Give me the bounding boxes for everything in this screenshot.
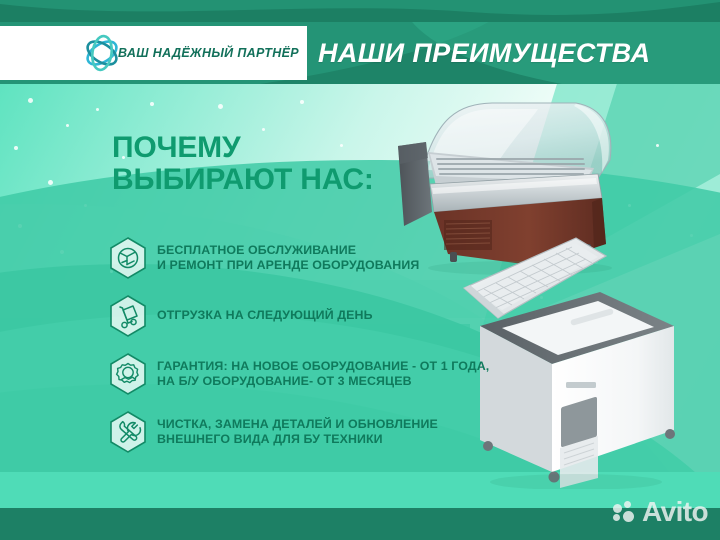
feature-line-2: НА Б/У ОБОРУДОВАНИЕ- ОТ 3 МЕСЯЦЕВ bbox=[157, 374, 489, 389]
list-item: ОТГРУЗКА НА СЛЕДУЮЩИЙ ДЕНЬ bbox=[108, 294, 528, 338]
guarantee-badge-icon bbox=[108, 352, 148, 396]
avito-dots-icon bbox=[613, 501, 639, 523]
banner-stage: ПОЧЕМУ ВЫБИРАЮТ НАС: bbox=[0, 84, 720, 540]
headline-line-1: ПОЧЕМУ bbox=[112, 131, 240, 164]
list-item-label: ГАРАНТИЯ: НА НОВОЕ ОБОРУДОВАНИЕ - ОТ 1 Г… bbox=[157, 359, 489, 389]
advantages-list: БЕСПЛАТНОЕ ОБСЛУЖИВАНИЕ И РЕМОНТ ПРИ АРЕ… bbox=[108, 236, 528, 468]
banner-title: НАШИ ПРЕИМУЩЕСТВА bbox=[318, 26, 650, 80]
list-item-label: БЕСПЛАТНОЕ ОБСЛУЖИВАНИЕ И РЕМОНТ ПРИ АРЕ… bbox=[157, 243, 419, 273]
feature-line-1: ОТГРУЗКА НА СЛЕДУЮЩИЙ ДЕНЬ bbox=[157, 308, 373, 323]
headline-line-2: ВЫБИРАЮТ НАС: bbox=[112, 164, 374, 196]
avito-label: Avito bbox=[642, 498, 708, 526]
advantages-banner: ВАШ НАДЁЖНЫЙ ПАРТНЁР НАШИ ПРЕИМУЩЕСТВА bbox=[0, 0, 720, 540]
feature-line-1: ЧИСТКА, ЗАМЕНА ДЕТАЛЕЙ И ОБНОВЛЕНИЕ bbox=[157, 417, 438, 432]
wrench-screwdriver-icon bbox=[108, 410, 148, 454]
list-item: БЕСПЛАТНОЕ ОБСЛУЖИВАНИЕ И РЕМОНТ ПРИ АРЕ… bbox=[108, 236, 528, 280]
feature-line-1: БЕСПЛАТНОЕ ОБСЛУЖИВАНИЕ bbox=[157, 243, 419, 258]
feature-line-2: И РЕМОНТ ПРИ АРЕНДЕ ОБОРУДОВАНИЯ bbox=[157, 258, 419, 273]
brand-logo-plate: ВАШ НАДЁЖНЫЙ ПАРТНЁР bbox=[0, 26, 307, 80]
handshake-icon bbox=[108, 236, 148, 280]
list-item-label: ОТГРУЗКА НА СЛЕДУЮЩИЙ ДЕНЬ bbox=[157, 308, 373, 323]
list-item-label: ЧИСТКА, ЗАМЕНА ДЕТАЛЕЙ И ОБНОВЛЕНИЕ ВНЕШ… bbox=[157, 417, 438, 447]
brand-logo-text: ВАШ НАДЁЖНЫЙ ПАРТНЁР bbox=[118, 46, 299, 60]
page-title: ПОЧЕМУ ВЫБИРАЮТ НАС: bbox=[112, 132, 374, 197]
bottom-dark-band bbox=[0, 508, 720, 540]
list-item: ГАРАНТИЯ: НА НОВОЕ ОБОРУДОВАНИЕ - ОТ 1 Г… bbox=[108, 352, 528, 396]
feature-line-1: ГАРАНТИЯ: НА НОВОЕ ОБОРУДОВАНИЕ - ОТ 1 Г… bbox=[157, 359, 489, 374]
avito-watermark: Avito bbox=[613, 498, 708, 526]
feature-line-2: ВНЕШНЕГО ВИДА ДЛЯ БУ ТЕХНИКИ bbox=[157, 432, 438, 447]
list-item: ЧИСТКА, ЗАМЕНА ДЕТАЛЕЙ И ОБНОВЛЕНИЕ ВНЕШ… bbox=[108, 410, 528, 454]
hand-truck-icon bbox=[108, 294, 148, 338]
